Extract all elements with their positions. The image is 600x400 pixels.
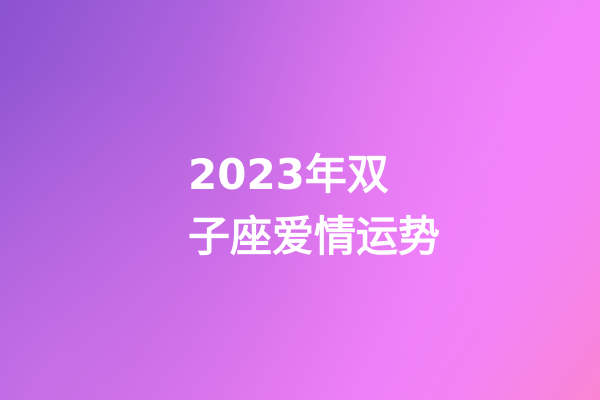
banner-title-line-1: 2023年双	[188, 144, 436, 206]
banner-title: 2023年双 子座爱情运势	[188, 144, 436, 268]
banner-image: 2023年双 子座爱情运势	[0, 0, 600, 400]
banner-title-line-2: 子座爱情运势	[188, 206, 436, 268]
